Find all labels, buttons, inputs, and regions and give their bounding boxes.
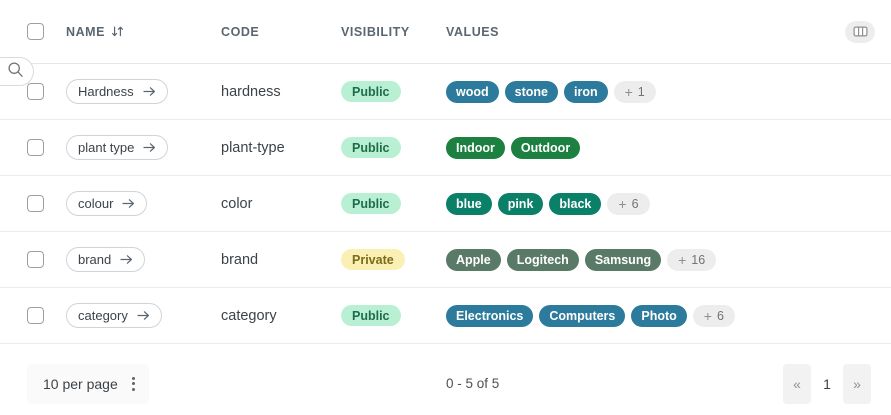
value-tag[interactable]: Apple: [446, 249, 501, 271]
column-header-code-label: CODE: [221, 25, 259, 39]
name-chip-label: plant type: [78, 140, 134, 155]
pagination-prev-button[interactable]: «: [783, 364, 811, 404]
per-page-label: 10 per page: [43, 376, 118, 392]
column-header-values[interactable]: VALUES: [446, 25, 829, 39]
plus-icon: +: [704, 308, 712, 324]
name-chip[interactable]: Hardness: [66, 79, 168, 104]
row-name-cell: plant type: [66, 135, 221, 160]
more-values-count: 6: [632, 197, 639, 211]
row-name-cell: brand: [66, 247, 221, 272]
table-body: HardnesshardnessPublicwoodstoneiron+1pla…: [0, 64, 891, 344]
row-code-cell: category: [221, 307, 341, 325]
row-select-checkbox[interactable]: [27, 195, 44, 212]
name-chip[interactable]: category: [66, 303, 162, 328]
table-row[interactable]: colourcolorPublicbluepinkblack+6: [0, 176, 891, 232]
value-tag[interactable]: black: [549, 193, 601, 215]
arrow-right-icon: [143, 142, 156, 153]
table-row[interactable]: brandbrandPrivateAppleLogitechSamsung+16: [0, 232, 891, 288]
row-values-cell: ElectronicsComputersPhoto+6: [446, 305, 829, 327]
row-visibility-cell: Public: [341, 137, 446, 158]
visibility-badge: Public: [341, 305, 401, 326]
plus-icon: +: [618, 196, 626, 212]
row-code-cell: brand: [221, 251, 341, 269]
row-code-text: color: [221, 196, 252, 212]
name-chip[interactable]: plant type: [66, 135, 168, 160]
table-row[interactable]: HardnesshardnessPublicwoodstoneiron+1: [0, 64, 891, 120]
name-chip[interactable]: colour: [66, 191, 147, 216]
column-header-code[interactable]: CODE: [221, 25, 341, 39]
value-tag[interactable]: Outdoor: [511, 137, 580, 159]
more-values-chip[interactable]: +1: [614, 81, 656, 103]
pagination-next-button[interactable]: »: [843, 364, 871, 404]
taxonomy-table-page: NAME CODE VISIBILITY VALUES: [0, 0, 891, 415]
value-tag[interactable]: Photo: [631, 305, 686, 327]
row-select-checkbox[interactable]: [27, 83, 44, 100]
arrow-right-icon: [143, 86, 156, 97]
pagination-page-1[interactable]: 1: [813, 364, 841, 404]
row-values-cell: bluepinkblack+6: [446, 193, 829, 215]
table-header-row: NAME CODE VISIBILITY VALUES: [0, 0, 891, 64]
visibility-badge: Public: [341, 193, 401, 214]
value-tag[interactable]: blue: [446, 193, 492, 215]
name-chip[interactable]: brand: [66, 247, 145, 272]
row-select-cell: [0, 307, 66, 324]
value-tag[interactable]: pink: [498, 193, 544, 215]
more-values-count: 16: [691, 253, 705, 267]
more-values-chip[interactable]: +6: [693, 305, 735, 327]
row-code-cell: hardness: [221, 83, 341, 101]
row-code-cell: color: [221, 195, 341, 213]
value-tag[interactable]: Samsung: [585, 249, 661, 271]
column-header-visibility[interactable]: VISIBILITY: [341, 25, 446, 39]
row-code-text: brand: [221, 252, 258, 268]
row-values-cell: IndoorOutdoor: [446, 137, 829, 159]
row-select-cell: [0, 195, 66, 212]
row-code-cell: plant-type: [221, 139, 341, 157]
value-tag[interactable]: iron: [564, 81, 608, 103]
table-row[interactable]: plant typeplant-typePublicIndoorOutdoor: [0, 120, 891, 176]
column-header-name-label: NAME: [66, 25, 105, 39]
search-button[interactable]: [0, 57, 34, 86]
plus-icon: +: [678, 252, 686, 268]
value-tag[interactable]: wood: [446, 81, 499, 103]
row-values-cell: AppleLogitechSamsung+16: [446, 249, 829, 271]
search-icon: [7, 61, 24, 83]
row-code-text: hardness: [221, 84, 281, 100]
value-tag[interactable]: stone: [505, 81, 558, 103]
taxonomy-table: NAME CODE VISIBILITY VALUES: [0, 0, 891, 344]
value-tag[interactable]: Computers: [539, 305, 625, 327]
more-values-chip[interactable]: +6: [607, 193, 649, 215]
name-chip-label: colour: [78, 196, 113, 211]
more-values-count: 6: [717, 309, 724, 323]
value-tag[interactable]: Electronics: [446, 305, 533, 327]
column-settings-cell: [829, 21, 891, 43]
name-chip-label: Hardness: [78, 84, 134, 99]
visibility-badge: Public: [341, 81, 401, 102]
more-values-count: 1: [638, 85, 645, 99]
row-visibility-cell: Private: [341, 249, 446, 270]
row-name-cell: category: [66, 303, 221, 328]
value-tag[interactable]: Logitech: [507, 249, 579, 271]
row-visibility-cell: Public: [341, 305, 446, 326]
select-all-cell: [0, 23, 66, 40]
per-page-selector[interactable]: 10 per page: [27, 364, 149, 404]
arrow-right-icon: [122, 198, 135, 209]
pagination: « 1 »: [783, 364, 871, 404]
row-select-cell: [0, 251, 66, 268]
row-code-text: plant-type: [221, 140, 285, 156]
row-select-cell: [0, 139, 66, 156]
column-header-values-label: VALUES: [446, 25, 499, 39]
name-chip-label: category: [78, 308, 128, 323]
row-values-cell: woodstoneiron+1: [446, 81, 829, 103]
row-name-cell: colour: [66, 191, 221, 216]
kebab-menu-icon[interactable]: [132, 377, 135, 391]
table-footer: 10 per page 0 - 5 of 5 « 1 »: [0, 352, 891, 415]
name-chip-label: brand: [78, 252, 111, 267]
sort-updown-icon[interactable]: [111, 25, 124, 38]
row-visibility-cell: Public: [341, 81, 446, 102]
more-values-chip[interactable]: +16: [667, 249, 716, 271]
select-all-checkbox[interactable]: [27, 23, 44, 40]
column-header-name[interactable]: NAME: [66, 25, 221, 39]
table-row[interactable]: categorycategoryPublicElectronicsCompute…: [0, 288, 891, 344]
row-code-text: category: [221, 308, 277, 324]
arrow-right-icon: [120, 254, 133, 265]
row-select-checkbox[interactable]: [27, 251, 44, 268]
arrow-right-icon: [137, 310, 150, 321]
row-select-checkbox[interactable]: [27, 139, 44, 156]
result-range-label: 0 - 5 of 5: [446, 376, 499, 391]
row-visibility-cell: Public: [341, 193, 446, 214]
row-select-checkbox[interactable]: [27, 307, 44, 324]
visibility-badge: Private: [341, 249, 405, 270]
value-tag[interactable]: Indoor: [446, 137, 505, 159]
plus-icon: +: [625, 84, 633, 100]
column-header-visibility-label: VISIBILITY: [341, 25, 410, 39]
row-name-cell: Hardness: [66, 79, 221, 104]
visibility-badge: Public: [341, 137, 401, 158]
columns-layout-icon[interactable]: [845, 21, 875, 43]
